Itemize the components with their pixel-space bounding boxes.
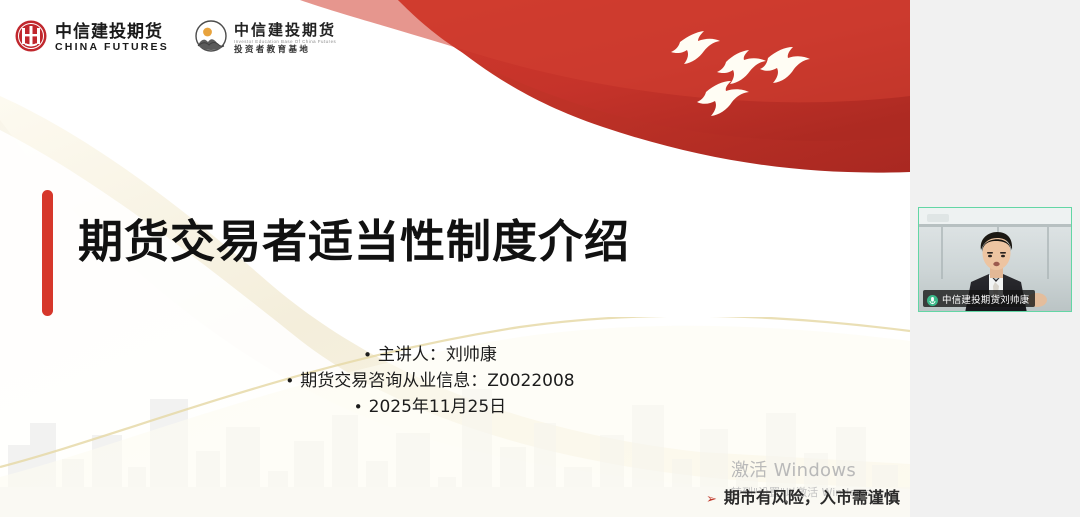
participant-name: 中信建投期货刘帅康	[942, 292, 1029, 306]
participant-name-badge: 中信建投期货刘帅康	[923, 290, 1035, 307]
logo-bar: 中信建投期货 CHINA FUTURES 中信建投期货 Investor Edu…	[14, 19, 336, 58]
investor-education-base-logo: 中信建投期货 Investor Education Base Of China …	[195, 20, 336, 57]
logo2-cn-name: 中信建投期货	[234, 21, 336, 39]
list-item-text: 主讲人：刘帅康	[378, 345, 497, 365]
title-accent-bar	[42, 190, 53, 316]
slide-meta-list: •主讲人：刘帅康 •期货交易咨询从业信息：Z0022008 •2025年11月2…	[0, 342, 860, 420]
presentation-slide[interactable]: 中信建投期货 CHINA FUTURES 中信建投期货 Investor Edu…	[0, 0, 910, 517]
risk-warning-text: 期市有风险，入市需谨慎	[724, 488, 900, 507]
bullet-marker: •	[363, 346, 372, 364]
participant-video-tile[interactable]: 中信建投期货刘帅康	[918, 207, 1072, 312]
logo-en-name: CHINA FUTURES	[55, 41, 169, 54]
citic-seal-icon	[14, 19, 48, 58]
risk-warning: ➢期市有风险，入市需谨慎	[706, 484, 900, 508]
arrow-marker-icon: ➢	[706, 492, 717, 507]
sunrise-mountain-icon	[195, 20, 227, 57]
bullet-marker: •	[285, 372, 294, 390]
china-futures-logo: 中信建投期货 CHINA FUTURES	[14, 19, 169, 58]
meeting-side-pane: 中信建投期货刘帅康	[910, 0, 1080, 517]
microphone-icon	[927, 293, 938, 304]
meeting-screen-share-view: 中信建投期货 CHINA FUTURES 中信建投期货 Investor Edu…	[0, 0, 1080, 517]
list-item: •主讲人：刘帅康	[0, 342, 860, 368]
bullet-marker: •	[354, 398, 363, 416]
list-item-text: 期货交易咨询从业信息：Z0022008	[300, 371, 574, 391]
logo2-subtitle: 投资者教育基地	[234, 45, 336, 56]
list-item: •2025年11月25日	[0, 394, 860, 420]
list-item-text: 2025年11月25日	[369, 397, 507, 417]
logo-cn-name: 中信建投期货	[55, 23, 169, 41]
page-title: 期货交易者适当性制度介绍	[78, 205, 630, 270]
list-item: •期货交易咨询从业信息：Z0022008	[0, 368, 860, 394]
